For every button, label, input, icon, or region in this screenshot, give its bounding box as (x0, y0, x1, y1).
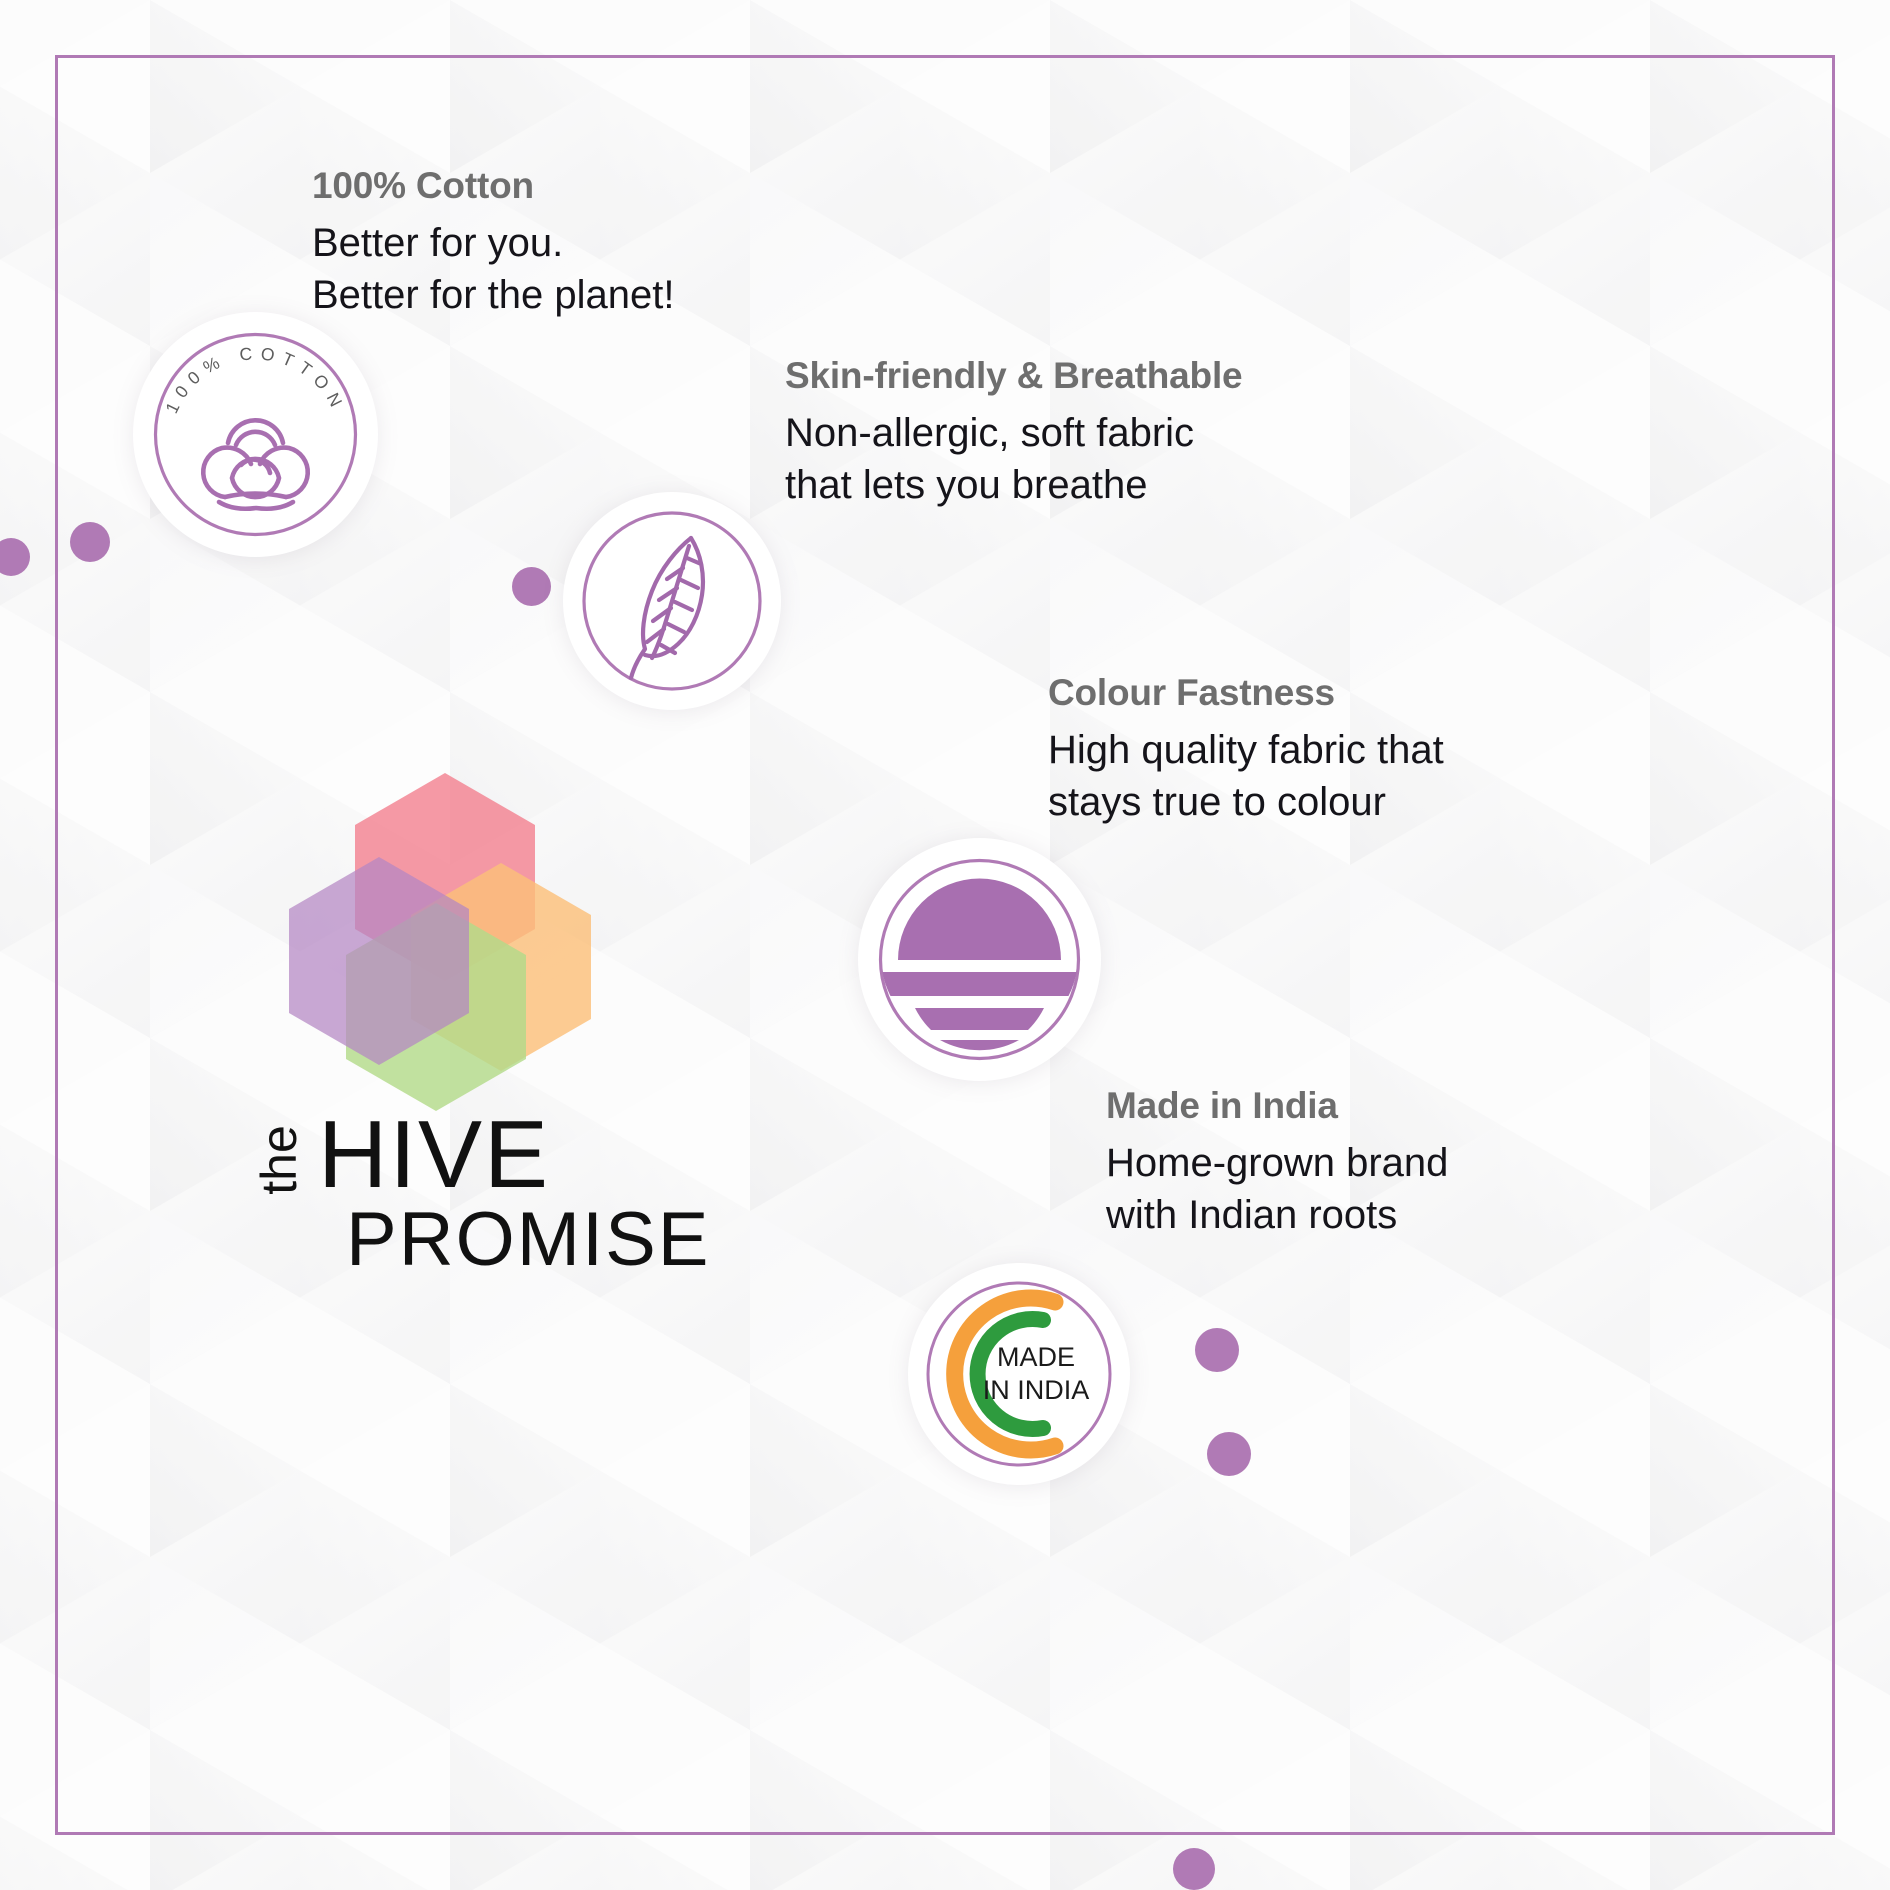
decorative-dot (1207, 1432, 1251, 1476)
feature-block-skin-friendly: Skin-friendly & Breathable Non-allergic,… (785, 355, 1242, 511)
feature-block-made-in-india: Made in India Home-grown brand with Indi… (1106, 1085, 1448, 1241)
hive-promise-logo: the HIVE PROMISE (268, 755, 628, 1282)
logo-hexagon-mark (273, 755, 618, 1115)
feature-line: Better for the planet! (312, 269, 674, 321)
decorative-dot (512, 567, 551, 606)
decorative-dot (1173, 1848, 1215, 1890)
feature-heading-cotton: 100% Cotton (312, 165, 674, 207)
feature-line: Better for you. (312, 217, 674, 269)
badge-cotton: 100% COTTON (133, 312, 378, 557)
logo-wordmark: the HIVE PROMISE (268, 1107, 628, 1282)
badge-text-in-india: IN INDIA (983, 1375, 1090, 1405)
badge-made-in-india: MADE IN INDIA (908, 1263, 1130, 1485)
feature-heading-made-in-india: Made in India (1106, 1085, 1448, 1127)
feature-block-colour-fastness: Colour Fastness High quality fabric that… (1048, 672, 1444, 828)
logo-the-text: the (254, 1125, 304, 1195)
feature-block-cotton: 100% Cotton Better for you. Better for t… (312, 165, 674, 321)
badge-colour-fastness (858, 838, 1101, 1081)
decorative-dot (70, 522, 110, 562)
badge-feather (563, 492, 781, 710)
sunset-icon (858, 838, 1101, 1081)
logo-promise-text: PROMISE (346, 1202, 711, 1278)
decorative-dot (1195, 1328, 1239, 1372)
feature-line: Non-allergic, soft fabric (785, 407, 1242, 459)
feather-icon (563, 492, 781, 710)
badge-arc-text: 100% COTTON (161, 343, 349, 416)
feature-heading-skin-friendly: Skin-friendly & Breathable (785, 355, 1242, 397)
logo-hive-text: HIVE (318, 1107, 550, 1203)
made-in-india-icon: MADE IN INDIA (908, 1263, 1130, 1485)
badge-text-made: MADE (997, 1342, 1075, 1372)
cotton-boll-icon: 100% COTTON (133, 312, 378, 557)
feature-heading-colour-fastness: Colour Fastness (1048, 672, 1444, 714)
feature-line: Home-grown brand (1106, 1137, 1448, 1189)
feature-line: with Indian roots (1106, 1189, 1448, 1241)
feature-line: stays true to colour (1048, 776, 1444, 828)
feature-line: that lets you breathe (785, 459, 1242, 511)
four-overlapping-hexagons-icon (273, 755, 618, 1115)
feature-line: High quality fabric that (1048, 724, 1444, 776)
